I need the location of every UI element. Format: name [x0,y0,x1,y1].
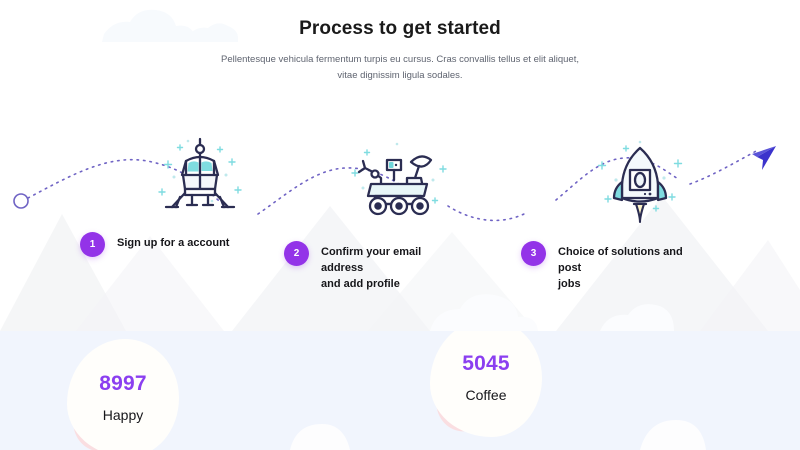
arrow-head-icon [752,146,776,170]
page-title: Process to get started [0,18,800,40]
rover-panel-dots [395,164,397,166]
process-section: Process to get started Pellentesque vehi… [0,0,800,331]
stat-value-1: 8997 [48,373,198,394]
lunar-lander-icon [150,131,250,217]
page-root: Process to get started Pellentesque vehi… [0,0,800,450]
process-step-2[interactable]: 2 Confirm your email address and add pro… [284,241,461,293]
rover-panel-detail [389,162,394,168]
stat-value-2: 5045 [411,353,561,374]
ground-cloud-shapes [430,294,674,331]
stat-caption-1: Happy [48,408,198,422]
rocket-icon [592,136,688,224]
page-subtitle: Pellentesque vehicula fermentum turpis e… [210,52,590,83]
stat-card-1: 8997 Happy [48,373,198,422]
stats-section: 8997 Happy 5045 Coffee [0,331,800,450]
stat-card-2: 5045 Coffee [411,353,561,402]
step-label-3: Choice of solutions and post jobs [558,241,698,293]
circle-marker-icon [14,194,28,208]
process-heading: Process to get started Pellentesque vehi… [0,18,800,83]
step-label-2: Confirm your email address and add profi… [321,241,461,293]
process-step-1[interactable]: 1 Sign up for a account [80,232,229,257]
rocket-flame [636,204,644,222]
step-badge-1: 1 [80,232,105,257]
process-step-3[interactable]: 3 Choice of solutions and post jobs [521,241,698,293]
lander-body [166,139,234,207]
stat-caption-2: Coffee [411,388,561,402]
step-badge-3: 3 [521,241,546,266]
step-badge-2: 2 [284,241,309,266]
rocket-body [614,148,666,204]
mars-rover-icon [347,136,451,220]
step-label-1: Sign up for a account [117,232,229,252]
rover-wheels [370,198,428,214]
